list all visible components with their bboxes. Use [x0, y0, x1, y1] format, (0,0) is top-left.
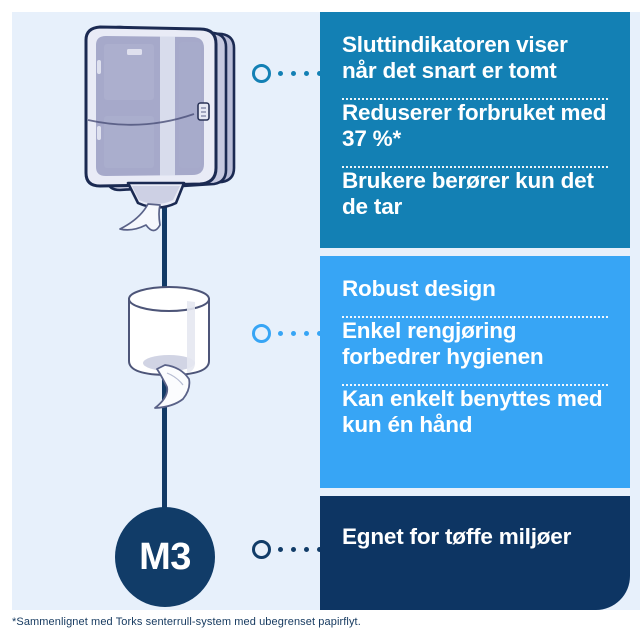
connector-to-panel-2: [252, 322, 330, 344]
paper-roll-illustration: [107, 277, 232, 412]
benefit-fact: Robust design: [342, 276, 608, 302]
m3-badge-label: M3: [139, 538, 191, 576]
benefit-fact: Brukere berører kun det de tar: [342, 168, 608, 220]
benefit-panel-2: Robust design Enkel rengjøring forbedrer…: [320, 256, 630, 488]
connector-to-panel-3: [252, 538, 330, 560]
benefit-fact: Sluttindikatoren viser når det snart er …: [342, 32, 608, 84]
connector-ring-icon: [252, 64, 271, 83]
paper-roll-icon: [107, 277, 232, 412]
infographic-root: M3 Sluttindikatoren viser når det snart …: [0, 0, 640, 640]
benefit-panel-1: Sluttindikatoren viser når det snart er …: [320, 12, 630, 248]
illustration-column: M3: [12, 12, 320, 610]
connector-ring-icon: [252, 324, 271, 343]
dispenser-icon: [72, 20, 262, 235]
dispenser-illustration: [72, 20, 262, 235]
benefit-fact: Egnet for tøffe miljøer: [342, 524, 608, 550]
footnote: *Sammenlignet med Torks senterrull-syste…: [12, 616, 361, 628]
connector-to-panel-1: [252, 62, 330, 84]
benefit-fact: Enkel rengjøring forbedrer hygienen: [342, 318, 608, 370]
m3-badge: M3: [115, 507, 215, 607]
benefit-fact: Kan enkelt benyttes med kun én hånd: [342, 386, 608, 438]
connector-ring-icon: [252, 540, 271, 559]
benefit-panel-3: Egnet for tøffe miljøer: [320, 496, 630, 610]
benefit-fact: Reduserer forbruket med 37 %*: [342, 100, 608, 152]
